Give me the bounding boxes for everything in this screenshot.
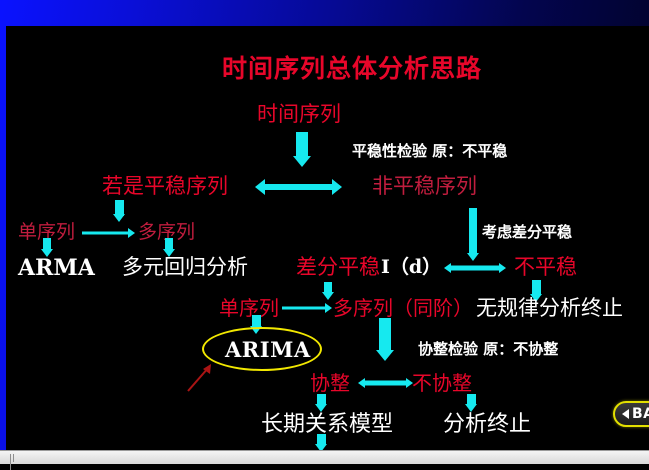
node-analysis-terminated: 分析终止 [443, 414, 531, 436]
note-stationarity-test: 平稳性检验 原：不平稳 [352, 144, 507, 159]
arrow-right-single-to-multi-left [82, 226, 135, 240]
taskbar-grip-handle[interactable] [10, 454, 18, 462]
node-not-stationary: 不平稳 [514, 257, 577, 278]
node-cointegrated: 协整 [310, 373, 350, 393]
node-single-series-mid: 单序列 [219, 298, 279, 318]
node-if-stationary: 若是平稳序列 [102, 176, 228, 197]
arrow-bidirectional-stationary-split [255, 177, 342, 197]
node-multivariate-regression: 多元回归分析 [122, 257, 248, 278]
back-button[interactable]: BACK [613, 401, 649, 427]
slide-title: 时间序列总体分析思路 [222, 56, 482, 81]
pointer-arrow-to-arima [184, 361, 218, 395]
arrow-bidirectional-cointegration-split [358, 374, 413, 392]
back-button-label: BACK [632, 406, 649, 422]
node-non-stationary: 非平稳序列 [372, 176, 477, 197]
node-no-pattern-stop: 无规律分析终止 [476, 298, 623, 319]
note-cointegration-test: 协整检验 原：不协整 [418, 342, 558, 357]
back-triangle-icon [622, 409, 629, 419]
node-arma: ARMA [18, 257, 95, 279]
arrow-right-single-to-multi-mid [282, 301, 332, 315]
node-time-series: 时间序列 [257, 104, 341, 125]
node-multi-series-same-order: 多序列（同阶） [333, 298, 473, 318]
node-not-cointegrated: 不协整 [412, 373, 472, 393]
node-arima: ARIMA [225, 337, 311, 362]
arrow-bidirectional-difference-split [444, 259, 506, 277]
presentation-slide: 时间序列总体分析思路 时间序列 平稳性检验 原：不平稳 若是平稳序列 非平稳序列… [6, 26, 649, 450]
node-long-run-model: 长期关系模型 [261, 414, 393, 436]
node-difference-stationary: 差分平稳 [296, 257, 380, 278]
taskbar[interactable] [0, 450, 649, 464]
node-difference-order: I（d） [381, 258, 441, 277]
note-consider-differencing: 考虑差分平稳 [482, 225, 572, 240]
